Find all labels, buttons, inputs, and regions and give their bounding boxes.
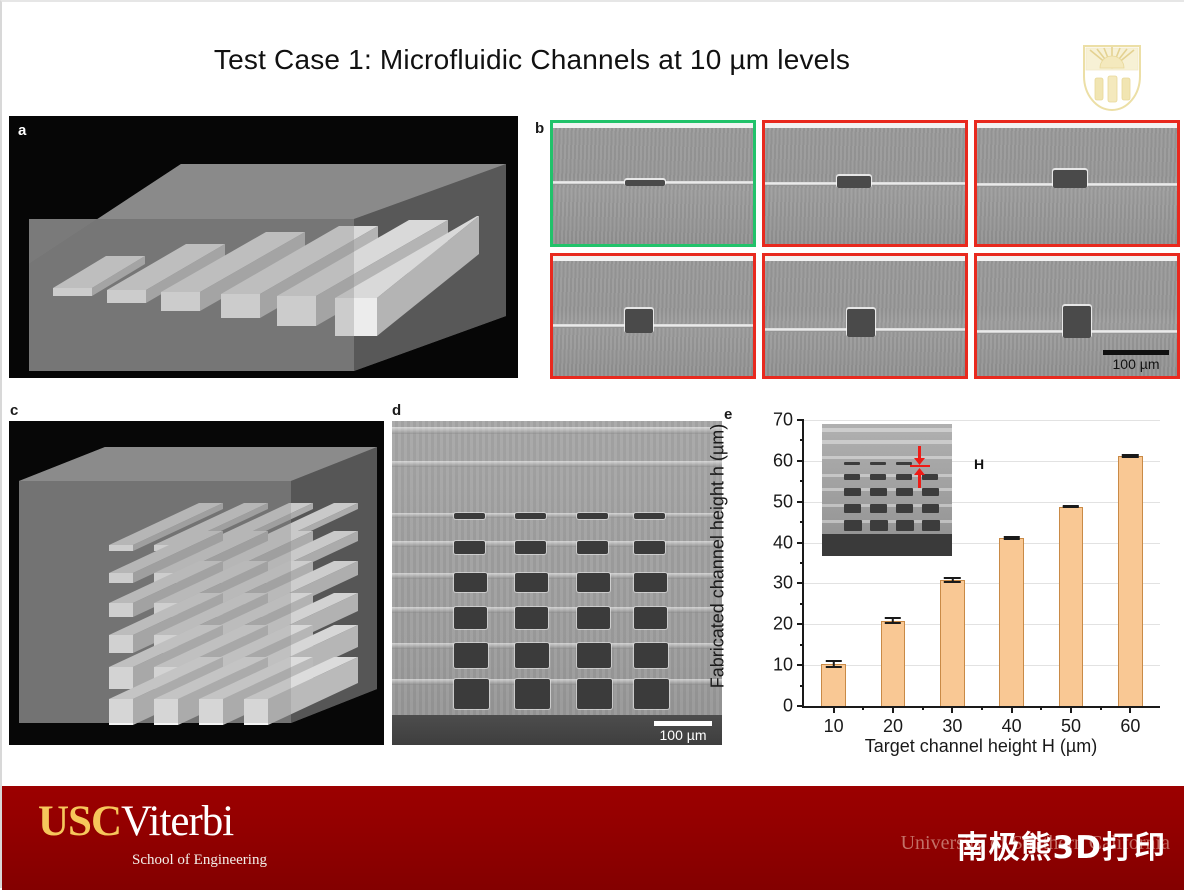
sem-top-strip [765, 123, 965, 128]
chart-y-tick-label: 10 [773, 655, 793, 676]
panel-b-sem-grid: 100 µm [550, 120, 1180, 379]
sem-channel-hole [515, 573, 548, 592]
sem-layer-band [392, 513, 722, 518]
viterbi-brand-text: Viterbi [121, 798, 233, 845]
panel-b-letter: b [535, 120, 544, 137]
chart-x-tick-label: 10 [824, 716, 844, 737]
panel-d-scalebar: 100 µm [654, 721, 712, 743]
sem-cell-1 [550, 120, 756, 247]
sem-channel-cross-section [1053, 170, 1087, 188]
sem-top-strip [977, 256, 1177, 261]
panel-e-letter: e [724, 406, 732, 423]
error-bar-cap [885, 622, 901, 624]
chart-x-axis-label: Target channel height H (µm) [802, 736, 1160, 757]
chart-y-tick-label: 70 [773, 410, 793, 431]
panel-c-3d-illustration [9, 421, 384, 745]
chart-y-tick-label: 30 [773, 573, 793, 594]
chart-x-tick [833, 706, 835, 713]
chart-y-minor-tick [800, 562, 804, 564]
error-bar-cap [825, 660, 841, 662]
chart-y-tick-label: 0 [783, 696, 793, 717]
chart-bar [1059, 507, 1084, 706]
chart-x-minor-tick [1100, 706, 1102, 710]
sem-channel-cross-section [625, 309, 653, 333]
error-bar-cap [944, 577, 960, 579]
watermark-text: 南极熊3D打印 [957, 822, 1166, 867]
chart-y-minor-tick [800, 685, 804, 687]
chart-x-minor-tick [1040, 706, 1042, 710]
chart-x-tick-label: 40 [1002, 716, 1022, 737]
chart-y-minor-tick [800, 603, 804, 605]
sem-layer-band [392, 541, 722, 547]
chart-bar [821, 664, 846, 706]
chart-bar [940, 580, 965, 706]
inset-hole [870, 462, 886, 465]
error-bar-cap [1122, 456, 1138, 458]
chart-bar [999, 538, 1024, 706]
sem-channel-hole [454, 607, 487, 629]
sem-cell-3 [974, 120, 1180, 247]
chart-y-tick-label: 50 [773, 491, 793, 512]
chart-error-bar [1122, 454, 1138, 458]
sem-top-strip [553, 123, 753, 128]
chart-error-bar [885, 617, 901, 624]
chart-error-bar [1003, 536, 1019, 540]
sem-layer-band [392, 643, 722, 649]
sem-channel-hole [515, 679, 550, 709]
sem-layer-band [392, 461, 722, 467]
chart-y-tick [797, 582, 804, 584]
sem-channel-cross-section [625, 180, 665, 186]
usc-viterbi-logo: USCViterbi School of Engineering [38, 800, 267, 869]
chart-gridline [804, 583, 1160, 584]
chart-inset-sem-image [822, 424, 952, 556]
inset-hole [870, 474, 886, 480]
sem-background [392, 421, 722, 745]
panel-a-letter: a [18, 122, 26, 139]
sem-cell-6: 100 µm [974, 253, 1180, 380]
inset-hole [896, 488, 913, 496]
arrow-reference-line [910, 465, 930, 467]
sem-channel-hole [577, 513, 608, 519]
panel-d-sem-array: 100 µm [392, 421, 722, 745]
error-bar-cap [1063, 506, 1079, 508]
sem-channel-hole [454, 513, 485, 519]
inset-hole [922, 520, 940, 531]
sem-channel-cross-section [837, 176, 871, 188]
sem-layer-band [392, 679, 722, 685]
panel-d-letter: d [392, 402, 401, 419]
scalebar-line [654, 721, 712, 726]
chart-error-bar [1063, 505, 1079, 508]
chart-error-bar [944, 577, 960, 583]
sem-channel-hole [454, 573, 487, 592]
panel-c-cad-render [9, 421, 384, 745]
sem-channel-hole [634, 679, 669, 709]
sem-cell-2 [762, 120, 968, 247]
chart-y-tick-label: 40 [773, 532, 793, 553]
chart-x-tick-label: 20 [883, 716, 903, 737]
error-bar-cap [885, 617, 901, 619]
error-bar-cap [1003, 538, 1019, 540]
chart-y-tick-label: 60 [773, 450, 793, 471]
error-bar-cap [825, 666, 841, 668]
chart-gridline [804, 665, 1160, 666]
sem-channel-hole [577, 643, 611, 668]
sem-channel-hole [515, 607, 548, 629]
chart-y-minor-tick [800, 521, 804, 523]
scalebar-label: 100 µm [1103, 356, 1169, 372]
sem-seam [553, 324, 753, 328]
inset-band [822, 428, 952, 432]
chart-x-tick [951, 706, 953, 713]
panel-e-bar-chart: Fabricated channel height h (µm) 0102030… [724, 406, 1182, 758]
sem-top-strip [977, 123, 1177, 128]
sem-channel-hole [634, 607, 667, 629]
chart-bar [881, 621, 906, 706]
sem-background [553, 256, 753, 377]
sem-channel-hole [634, 573, 667, 592]
school-of-engineering-text: School of Engineering [132, 852, 267, 869]
sem-channel-hole [577, 607, 610, 629]
chart-y-tick [797, 542, 804, 544]
sem-channel-hole [577, 541, 608, 554]
chart-x-tick [1011, 706, 1013, 713]
inset-hole [922, 504, 939, 513]
panel-c-letter: c [10, 402, 18, 419]
inset-hole [844, 520, 862, 531]
scalebar-label: 100 µm [654, 727, 712, 743]
slide-canvas: Test Case 1: Microfluidic Channels at 10… [0, 0, 1184, 888]
inset-hole [922, 488, 939, 496]
sem-channel-cross-section [1063, 306, 1091, 338]
chart-x-tick-label: 60 [1120, 716, 1140, 737]
inset-hole [844, 488, 861, 496]
chart-y-minor-tick [800, 480, 804, 482]
chart-y-minor-tick [800, 439, 804, 441]
sem-channel-hole [577, 573, 610, 592]
sem-channel-hole [634, 643, 668, 668]
chart-x-tick [1129, 706, 1131, 713]
inset-h-annotation: H [974, 456, 984, 472]
chart-x-minor-tick [981, 706, 983, 710]
sem-layer-band [392, 427, 722, 434]
arrow-down-icon [918, 446, 921, 460]
usc-shield-icon [1064, 30, 1160, 114]
chart-x-minor-tick [862, 706, 864, 710]
sem-layer-band [392, 607, 722, 613]
inset-hole [896, 474, 912, 480]
chart-bar [1118, 456, 1143, 706]
chart-y-tick-label: 20 [773, 614, 793, 635]
usc-brand-text: USC [38, 798, 121, 845]
chart-gridline [804, 624, 1160, 625]
footer-band: USCViterbi School of Engineering Univers… [2, 786, 1184, 890]
inset-hole [870, 488, 887, 496]
chart-y-tick [797, 419, 804, 421]
inset-hole [870, 520, 888, 531]
chart-y-tick [797, 501, 804, 503]
sem-channel-hole [634, 513, 665, 519]
inset-band [822, 440, 952, 444]
inset-base-strip [822, 534, 952, 556]
inset-hole [896, 504, 913, 513]
inset-hole [896, 520, 914, 531]
arrow-up-icon [918, 474, 921, 488]
chart-x-tick [1070, 706, 1072, 713]
sem-channel-hole [454, 643, 488, 668]
sem-channel-hole [577, 679, 612, 709]
sem-cell-5 [762, 253, 968, 380]
sem-channel-hole [515, 541, 546, 554]
sem-channel-hole [515, 643, 549, 668]
sem-channel-hole [454, 541, 485, 554]
chart-x-tick-label: 30 [942, 716, 962, 737]
chart-x-tick-label: 50 [1061, 716, 1081, 737]
chart-x-minor-tick [922, 706, 924, 710]
sem-top-strip [553, 256, 753, 261]
chart-y-minor-tick [800, 644, 804, 646]
sem-top-strip [765, 256, 965, 261]
panel-a-3d-illustration [9, 116, 518, 378]
panel-b-scalebar: 100 µm [1103, 350, 1169, 372]
usc-viterbi-wordmark: USCViterbi [38, 800, 267, 843]
page-title: Test Case 1: Microfluidic Channels at 10… [2, 44, 1062, 76]
chart-y-tick [797, 623, 804, 625]
inset-hole [844, 462, 860, 465]
chart-y-tick [797, 705, 804, 707]
chart-gridline [804, 420, 1160, 421]
chart-plot-area: 010203040506070 102030405060 [802, 420, 1160, 708]
sem-channel-cross-section [847, 309, 875, 337]
panel-a-cad-render: a [9, 116, 518, 378]
chart-y-axis-label: Fabricated channel height h (µm) [708, 424, 729, 689]
sem-layer-band [392, 573, 722, 579]
scalebar-line [1103, 350, 1169, 355]
sem-channel-hole [634, 541, 665, 554]
chart-y-tick [797, 460, 804, 462]
inset-hole [844, 504, 861, 513]
sem-channel-hole [454, 679, 489, 709]
inset-band [822, 456, 952, 459]
inset-hole [870, 504, 887, 513]
sem-cell-4 [550, 253, 756, 380]
sem-channel-hole [515, 513, 546, 519]
chart-y-tick [797, 664, 804, 666]
error-bar-cap [944, 581, 960, 583]
chart-error-bar [825, 660, 841, 668]
chart-x-tick [892, 706, 894, 713]
inset-hole [844, 474, 860, 480]
